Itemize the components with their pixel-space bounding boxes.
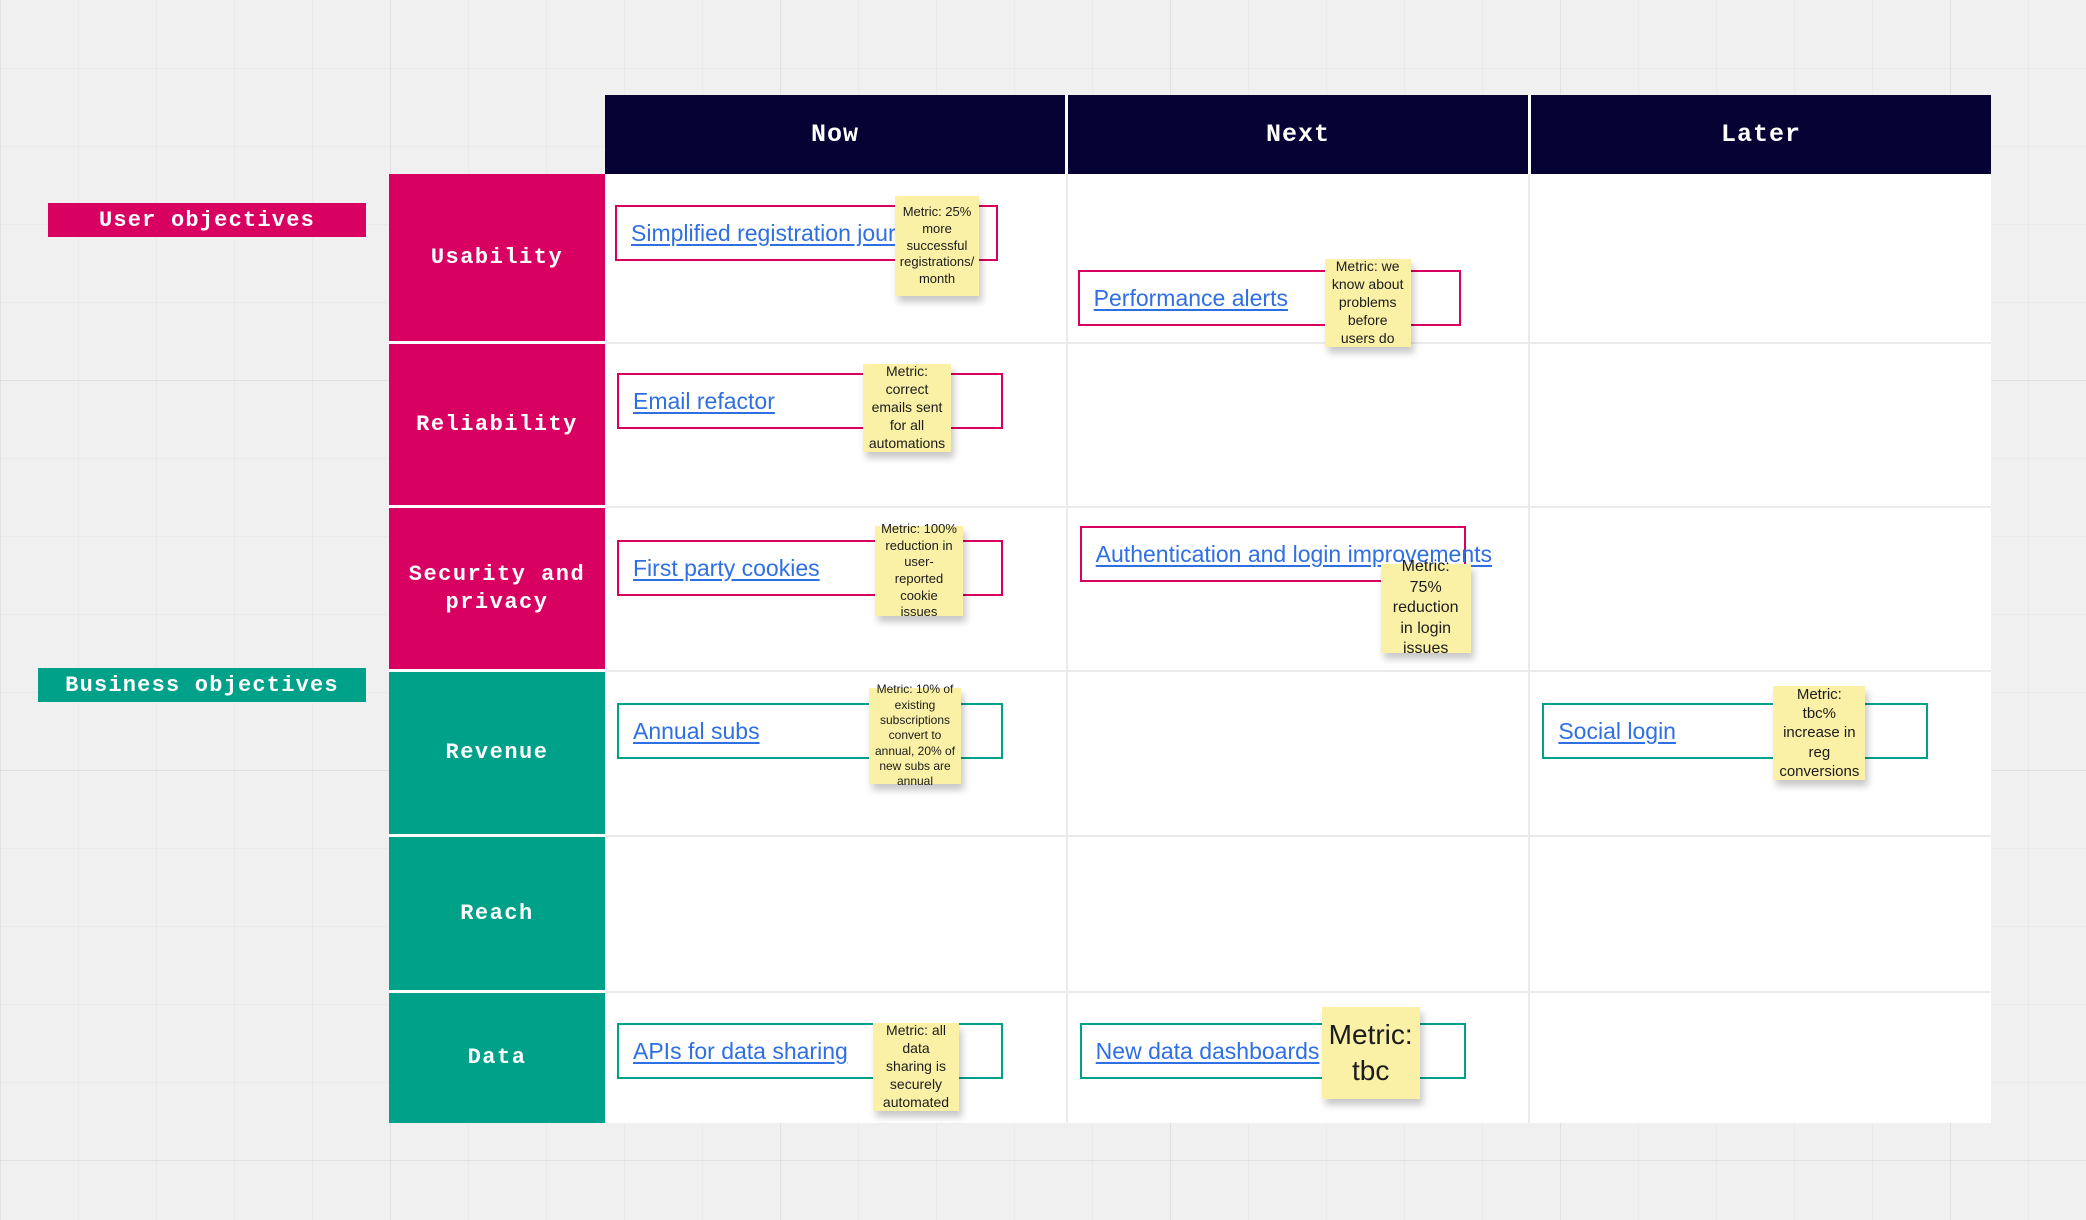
sticky-note-social-login[interactable]: Metric: tbc% increase in reg conversions xyxy=(1773,686,1865,780)
column-header-next-label: Next xyxy=(1266,120,1330,149)
row-label-data: Data xyxy=(389,993,605,1123)
cell-usability-next: Performance alerts Metric: we know about… xyxy=(1068,174,1531,344)
matrix-row-reliability: Reliability Email refactor Metric: corre… xyxy=(389,344,1991,508)
matrix-row-usability: Usability Simplified registration journe… xyxy=(389,174,1991,344)
row-label-revenue-text: Revenue xyxy=(446,739,549,767)
cell-revenue-now: Annual subs Metric: 10% of existing subs… xyxy=(605,672,1068,837)
card-performance-alerts-link[interactable]: Performance alerts xyxy=(1094,285,1288,312)
sticky-note-annual-subs-text: Metric: 10% of existing subscriptions co… xyxy=(874,682,956,790)
card-email-refactor-link[interactable]: Email refactor xyxy=(633,388,775,415)
row-label-usability-text: Usability xyxy=(431,244,563,272)
section-label-business-objectives: Business objectives xyxy=(38,668,366,702)
sticky-note-apis-for-data-sharing-text: Metric: all data sharing is securely aut… xyxy=(878,1022,954,1112)
row-label-reliability: Reliability xyxy=(389,344,605,508)
cell-reliability-next xyxy=(1068,344,1531,508)
section-label-user-objectives: User objectives xyxy=(48,203,366,237)
section-label-business-objectives-text: Business objectives xyxy=(65,673,339,698)
row-label-reach: Reach xyxy=(389,837,605,993)
sticky-note-simplified-registration-journey[interactable]: Metric: 25% more successful registration… xyxy=(895,196,979,296)
matrix-row-data: Data APIs for data sharing Metric: all d… xyxy=(389,993,1991,1123)
row-label-revenue: Revenue xyxy=(389,672,605,837)
sticky-note-first-party-cookies[interactable]: Metric: 100% reduction in user-reported … xyxy=(875,526,963,616)
sticky-note-social-login-text: Metric: tbc% increase in reg conversions xyxy=(1778,685,1860,781)
column-header-later: Later xyxy=(1531,95,1991,174)
matrix-column-headers: Now Next Later xyxy=(605,95,1991,174)
row-label-usability: Usability xyxy=(389,174,605,344)
section-label-user-objectives-text: User objectives xyxy=(99,208,315,233)
sticky-note-apis-for-data-sharing[interactable]: Metric: all data sharing is securely aut… xyxy=(873,1023,959,1111)
sticky-note-simplified-registration-journey-text: Metric: 25% more successful registration… xyxy=(900,204,974,287)
sticky-note-annual-subs[interactable]: Metric: 10% of existing subscriptions co… xyxy=(869,688,961,784)
cell-data-next: New data dashboards Metric: tbc xyxy=(1068,993,1531,1123)
column-header-now: Now xyxy=(605,95,1068,174)
cell-reliability-later xyxy=(1530,344,1991,508)
card-simplified-registration-journey-link[interactable]: Simplified registration journey xyxy=(631,220,933,247)
roadmap-board: User objectives Business objectives Now … xyxy=(0,0,2086,1220)
sticky-note-performance-alerts-text: Metric: we know about problems before us… xyxy=(1330,258,1406,348)
sticky-note-authentication-and-login-improvements-text: Metric: 75% reduction in login issues xyxy=(1386,557,1466,659)
matrix-row-reach: Reach xyxy=(389,837,1991,993)
sticky-note-performance-alerts[interactable]: Metric: we know about problems before us… xyxy=(1325,259,1411,347)
cell-usability-now: Simplified registration journey Metric: … xyxy=(605,174,1068,344)
cell-revenue-later: Social login Metric: tbc% increase in re… xyxy=(1530,672,1991,837)
cell-data-now: APIs for data sharing Metric: all data s… xyxy=(605,993,1068,1123)
cell-reach-next xyxy=(1068,837,1531,993)
cell-security-later xyxy=(1530,508,1991,672)
cell-revenue-next xyxy=(1068,672,1531,837)
card-new-data-dashboards-link[interactable]: New data dashboards xyxy=(1096,1038,1320,1065)
sticky-note-new-data-dashboards[interactable]: Metric: tbc xyxy=(1322,1007,1420,1099)
matrix-row-security: Security and privacy First party cookies… xyxy=(389,508,1991,672)
sticky-note-authentication-and-login-improvements[interactable]: Metric: 75% reduction in login issues xyxy=(1381,564,1471,653)
card-social-login-link[interactable]: Social login xyxy=(1558,718,1676,745)
cell-data-later xyxy=(1530,993,1991,1123)
row-label-security-text: Security and privacy xyxy=(397,561,597,616)
row-label-reliability-text: Reliability xyxy=(416,411,578,439)
cell-security-next: Authentication and login improvements Me… xyxy=(1068,508,1531,672)
cell-reach-later xyxy=(1530,837,1991,993)
column-header-next: Next xyxy=(1068,95,1531,174)
roadmap-matrix: Now Next Later Usability Simplified regi… xyxy=(389,95,1991,1123)
matrix-body: Usability Simplified registration journe… xyxy=(389,174,1991,1123)
matrix-row-revenue: Revenue Annual subs Metric: 10% of exist… xyxy=(389,672,1991,837)
cell-reliability-now: Email refactor Metric: correct emails se… xyxy=(605,344,1068,508)
row-label-security: Security and privacy xyxy=(389,508,605,672)
sticky-note-email-refactor-text: Metric: correct emails sent for all auto… xyxy=(868,363,946,453)
row-label-reach-text: Reach xyxy=(460,900,534,928)
card-first-party-cookies-link[interactable]: First party cookies xyxy=(633,555,820,582)
sticky-note-first-party-cookies-text: Metric: 100% reduction in user-reported … xyxy=(880,521,958,621)
row-label-data-text: Data xyxy=(468,1044,527,1072)
column-header-later-label: Later xyxy=(1721,120,1801,149)
card-social-login[interactable]: Social login xyxy=(1542,703,1928,759)
sticky-note-email-refactor[interactable]: Metric: correct emails sent for all auto… xyxy=(863,364,951,452)
cell-usability-later xyxy=(1530,174,1991,344)
card-apis-for-data-sharing-link[interactable]: APIs for data sharing xyxy=(633,1038,848,1065)
cell-reach-now xyxy=(605,837,1068,993)
sticky-note-new-data-dashboards-text: Metric: tbc xyxy=(1327,1017,1415,1089)
column-header-now-label: Now xyxy=(811,120,859,149)
cell-security-now: First party cookies Metric: 100% reducti… xyxy=(605,508,1068,672)
card-annual-subs-link[interactable]: Annual subs xyxy=(633,718,760,745)
